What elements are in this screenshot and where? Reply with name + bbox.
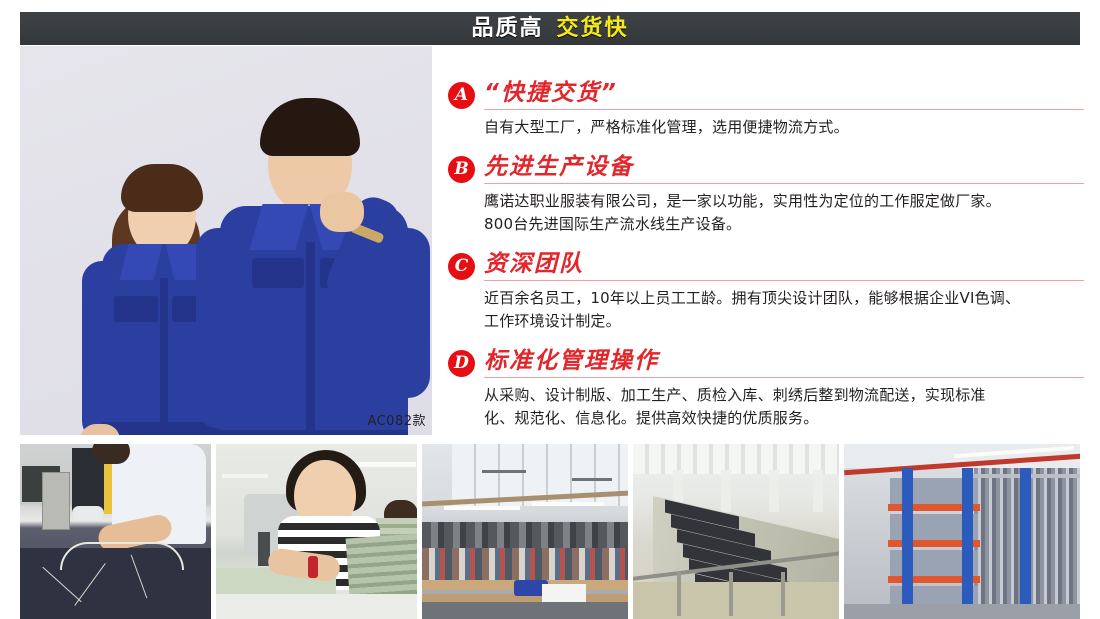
model-female-hair-top [121, 164, 203, 212]
feature-c-title-wrap: 资深团队 [484, 251, 1084, 281]
feature-item-a: A “快捷交货” 自有大型工厂，严格标准化管理，选用便捷物流方式。 [448, 80, 1084, 139]
feature-b-head: B 先进生产设备 [448, 154, 1084, 184]
model-male-hand [320, 192, 364, 232]
header-title-accent: 交货快 [557, 18, 629, 40]
p3-strip-light-2 [532, 502, 604, 506]
gallery-strip [20, 444, 1080, 619]
hero-photo-art [20, 46, 432, 435]
feature-b-title-wrap: 先进生产设备 [484, 154, 1084, 184]
feature-a-title: “快捷交货” [484, 80, 1084, 107]
p5-rack-upright-2 [962, 468, 973, 619]
promo-page: 品质高 交货快 [0, 0, 1100, 619]
feature-item-c: C 资深团队 近百余名员工，10年以上员工工龄。拥有顶尖设计团队，能够根据企业V… [448, 251, 1084, 333]
feature-c-line-2: 工作环境设计制定。 [484, 310, 1084, 333]
model-male-pocket-left [252, 258, 304, 288]
p3-strip-light-1 [444, 506, 520, 510]
p4-ceiling [633, 444, 839, 474]
feature-b-title: 先进生产设备 [484, 154, 1084, 181]
feature-c-title: 资深团队 [484, 251, 1084, 278]
p5-rack-upright-1 [902, 468, 913, 619]
p1-shoe [72, 506, 104, 520]
p5-rack-upright-3 [1020, 468, 1031, 619]
model-female-pocket-left [114, 296, 158, 322]
feature-c-head: C 资深团队 [448, 251, 1084, 281]
p2-worktable [216, 594, 417, 619]
p4-floor [633, 582, 839, 619]
p4-support-leg-2 [729, 572, 733, 616]
p3-workers-row [422, 548, 628, 584]
feature-d-head: D 标准化管理操作 [448, 348, 1084, 378]
feature-c-rule [484, 280, 1084, 281]
p1-pc-tower [42, 472, 70, 530]
feature-item-d: D 标准化管理操作 从采购、设计制版、加工生产、质检入库、刺绣后整到物流配送，实… [448, 348, 1084, 430]
feature-b-line-1: 鹰诺达职业服装有限公司，是一家以功能，实用性为定位的工作服定做厂家。 [484, 190, 1084, 213]
model-male-waistband [220, 430, 408, 435]
p4-support-leg-1 [677, 572, 681, 616]
feature-a-line-1: 自有大型工厂，严格标准化管理，选用便捷物流方式。 [484, 116, 1084, 139]
feature-a-body: 自有大型工厂，严格标准化管理，选用便捷物流方式。 [484, 116, 1084, 139]
photo-production-floor [422, 444, 628, 619]
p5-floor [844, 604, 1080, 619]
feature-d-body: 从采购、设计制版、加工生产、质检入库、刺绣后整到物流配送，实现标准 化、规范化、… [484, 384, 1084, 430]
feature-a-title-wrap: “快捷交货” [484, 80, 1084, 110]
feature-a-badge: A [448, 82, 475, 109]
model-male-hair [260, 98, 360, 156]
p2-red-wristband [308, 556, 318, 578]
p4-support-leg-3 [781, 572, 785, 616]
feature-b-badge: B [448, 156, 475, 183]
header-bar: 品质高 交货快 [20, 12, 1080, 45]
p3-ceiling-fan-2 [572, 478, 612, 481]
photo-sewing-operator [216, 444, 417, 619]
feature-d-title: 标准化管理操作 [484, 348, 1084, 375]
p4-column-4 [813, 470, 823, 512]
feature-c-badge: C [448, 253, 475, 280]
model-male-placket [306, 242, 315, 435]
feature-c-body: 近百余名员工，10年以上员工工龄。拥有顶尖设计团队，能够根据企业VI色调、 工作… [484, 287, 1084, 333]
feature-d-title-wrap: 标准化管理操作 [484, 348, 1084, 378]
feature-a-rule [484, 109, 1084, 110]
photo-conveyor-line [633, 444, 839, 619]
photo-pattern-cutting [20, 444, 211, 619]
p3-floor [422, 602, 628, 619]
feature-b-body: 鹰诺达职业服装有限公司，是一家以功能，实用性为定位的工作服定做厂家。 800台先… [484, 190, 1084, 236]
product-model-code: AC082款 [367, 410, 426, 429]
p4-column-3 [769, 470, 779, 512]
p1-pattern-curve [60, 542, 184, 570]
feature-c-line-1: 近百余名员工，10年以上员工工龄。拥有顶尖设计团队，能够根据企业VI色调、 [484, 287, 1084, 310]
hero-product-photo: AC082款 [20, 46, 432, 435]
model-female-placket [160, 278, 168, 435]
feature-d-badge: D [448, 350, 475, 377]
header-title-primary: 品质高 [471, 18, 543, 40]
feature-d-line-2: 化、规范化、信息化。提供高效快捷的优质服务。 [484, 407, 1084, 430]
feature-d-rule [484, 377, 1084, 378]
p3-ceiling-fan-1 [482, 470, 526, 473]
p4-column-2 [721, 470, 731, 512]
feature-a-head: A “快捷交货” [448, 80, 1084, 110]
p2-ceiling-light-2 [222, 474, 268, 478]
feature-item-b: B 先进生产设备 鹰诺达职业服装有限公司，是一家以功能，实用性为定位的工作服定做… [448, 154, 1084, 236]
photo-warehouse-racking [844, 444, 1080, 619]
p1-worker-head [92, 444, 130, 464]
feature-b-rule [484, 183, 1084, 184]
feature-list: A “快捷交货” 自有大型工厂，严格标准化管理，选用便捷物流方式。 B 先进生产… [448, 80, 1084, 445]
feature-d-line-1: 从采购、设计制版、加工生产、质检入库、刺绣后整到物流配送，实现标准 [484, 384, 1084, 407]
feature-b-line-2: 800台先进国际生产流水线生产设备。 [484, 213, 1084, 236]
